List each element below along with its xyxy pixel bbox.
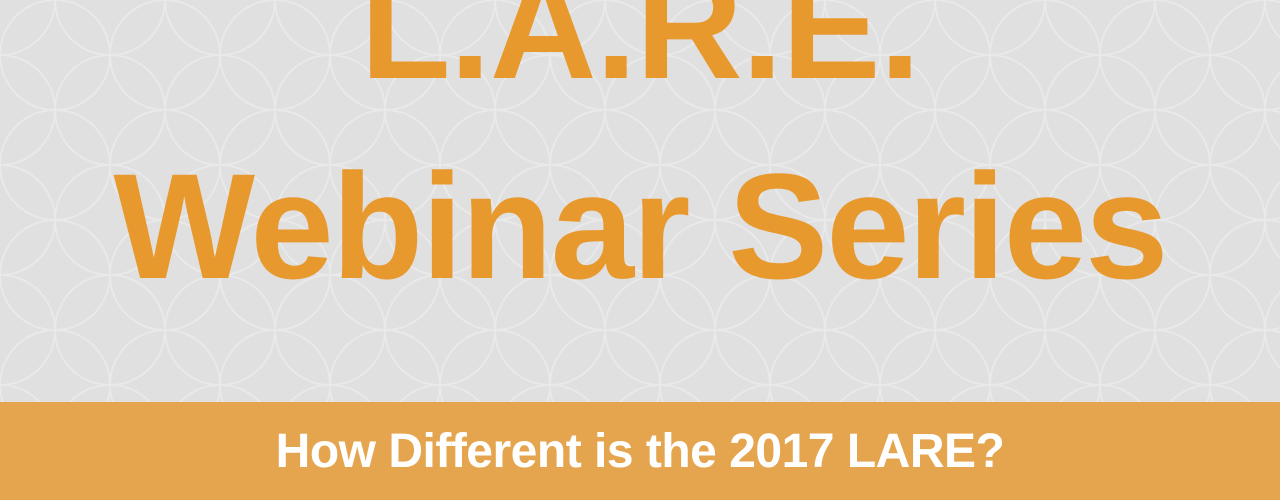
hero-section: L.A.R.E. Webinar Series [0, 0, 1280, 402]
page-title-secondary: Webinar Series [0, 151, 1280, 301]
lare-webinar-banner: L.A.R.E. Webinar Series How Different is… [0, 0, 1280, 500]
subtitle-text: How Different is the 2017 LARE? [0, 428, 1280, 476]
subtitle-bar: How Different is the 2017 LARE? [0, 402, 1280, 500]
page-title-primary: L.A.R.E. [0, 0, 1280, 102]
